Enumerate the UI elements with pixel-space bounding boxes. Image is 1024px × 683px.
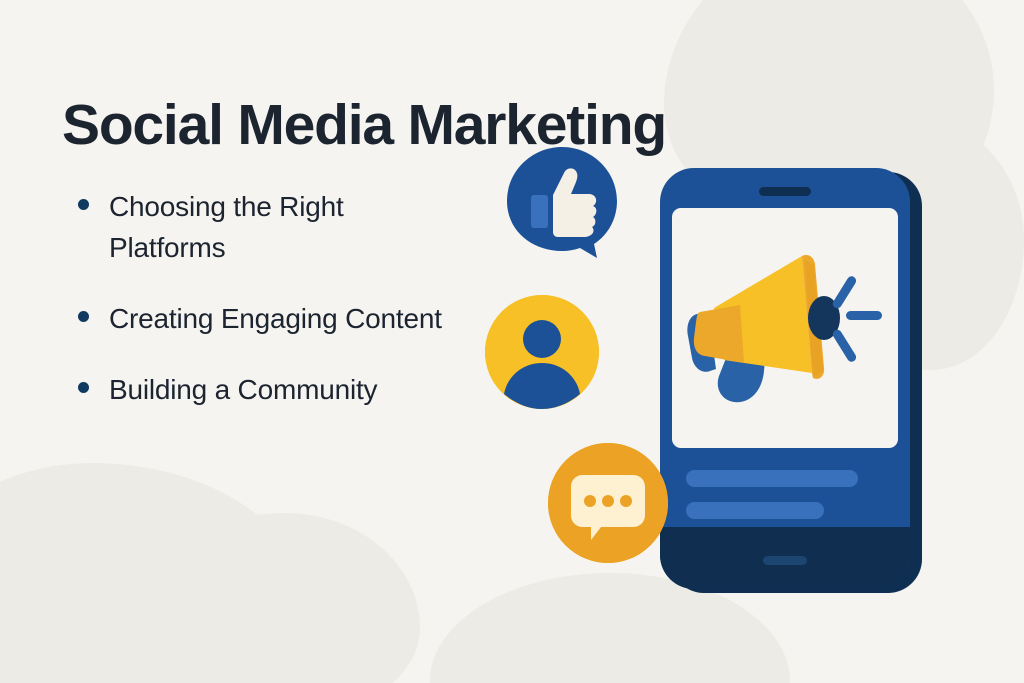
user-badge — [485, 295, 599, 409]
background-blob-bottom-left — [0, 463, 310, 683]
slide-canvas: Social Media Marketing Choosing the Righ… — [0, 0, 1024, 683]
phone-screen — [672, 208, 898, 448]
thumbs-up-icon — [505, 145, 619, 259]
megaphone-icon — [672, 208, 898, 448]
chat-bubble-icon — [548, 443, 668, 563]
content-placeholder-bar — [686, 502, 824, 519]
speaker-grille-icon — [759, 187, 811, 196]
phone-body — [660, 168, 910, 589]
background-blob-bottom-left-two — [120, 513, 420, 683]
chat-badge — [548, 443, 668, 563]
bullet-dot-icon — [78, 199, 89, 210]
home-indicator-icon — [763, 556, 807, 565]
list-item: Building a Community — [78, 369, 458, 410]
list-item: Creating Engaging Content — [78, 298, 458, 339]
bullet-item-label: Building a Community — [109, 369, 377, 410]
bullet-dot-icon — [78, 382, 89, 393]
bullet-item-label: Creating Engaging Content — [109, 298, 442, 339]
smartphone-mockup — [660, 168, 922, 593]
like-badge — [505, 145, 619, 259]
bullet-item-label: Choosing the Right Platforms — [109, 186, 458, 268]
content-placeholder-bar — [686, 470, 858, 487]
bullet-dot-icon — [78, 311, 89, 322]
social-media-illustration — [470, 130, 990, 630]
user-avatar-icon — [485, 295, 599, 409]
bullet-list: Choosing the Right Platforms Creating En… — [78, 186, 458, 441]
list-item: Choosing the Right Platforms — [78, 186, 458, 268]
